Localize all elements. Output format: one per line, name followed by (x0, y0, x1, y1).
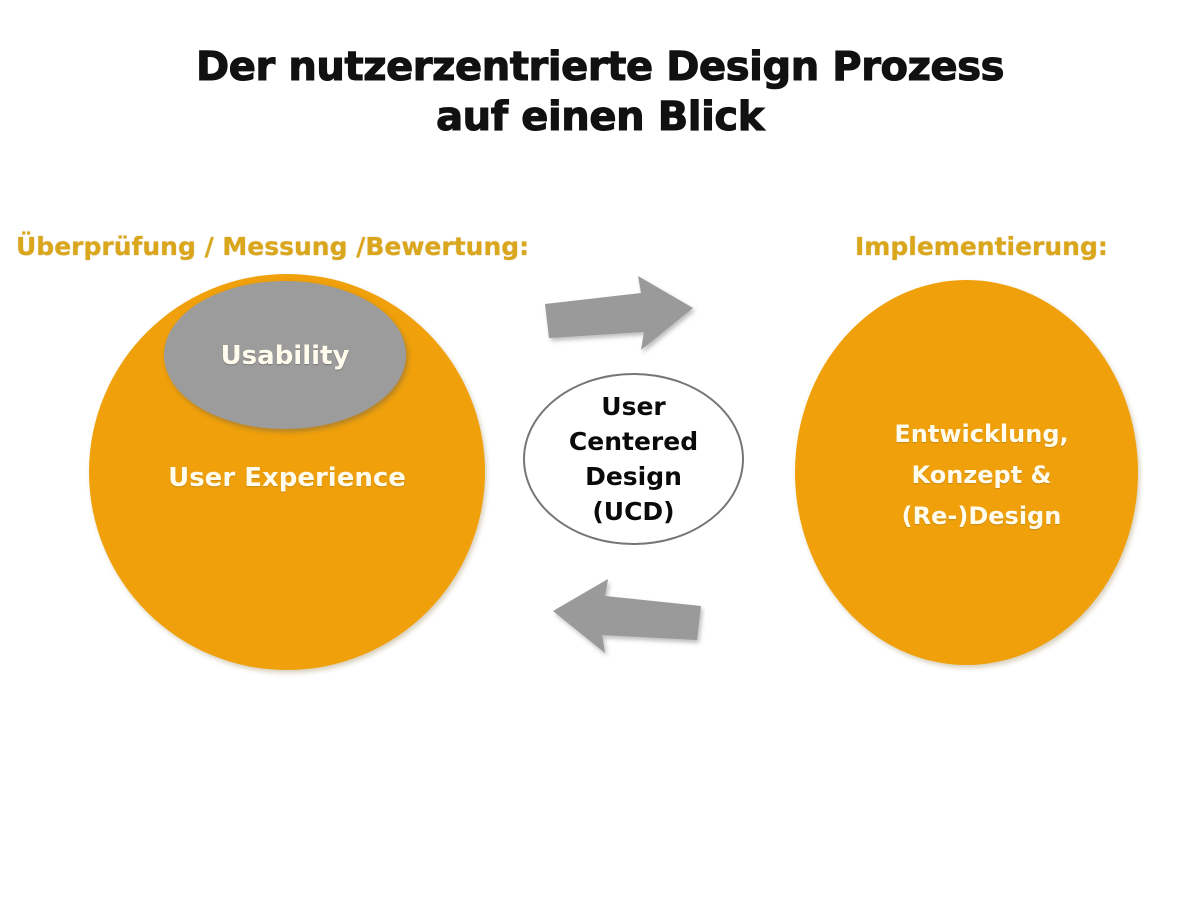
diagram-canvas: Der nutzerzentrierte Design Prozess auf … (0, 0, 1200, 900)
usability-label: Usability (164, 339, 406, 373)
implementation-label-line-1: Entwicklung, (810, 414, 1153, 455)
page-title-line-1: Der nutzerzentrierte Design Prozess (0, 42, 1200, 92)
ucd-label-line-3: Design (523, 459, 744, 494)
ucd-label: User Centered Design (UCD) (523, 389, 744, 529)
implementation-label-line-3: (Re-)Design (810, 496, 1153, 537)
section-label-implementation: Implementierung: (855, 232, 1108, 262)
arrow-left-icon (545, 566, 705, 666)
ucd-label-line-2: Centered (523, 424, 744, 459)
implementation-label-line-2: Konzept & (810, 455, 1153, 496)
page-title-line-2: auf einen Blick (0, 92, 1200, 142)
arrow-right-icon (541, 258, 701, 358)
ucd-label-line-1: User (523, 389, 744, 424)
section-label-evaluation: Überprüfung / Messung /Bewertung: (16, 232, 529, 262)
implementation-circle-label: Entwicklung, Konzept & (Re-)Design (810, 414, 1153, 537)
user-experience-label: User Experience (89, 461, 485, 495)
ucd-label-line-4: (UCD) (523, 494, 744, 529)
page-title: Der nutzerzentrierte Design Prozess auf … (0, 42, 1200, 142)
